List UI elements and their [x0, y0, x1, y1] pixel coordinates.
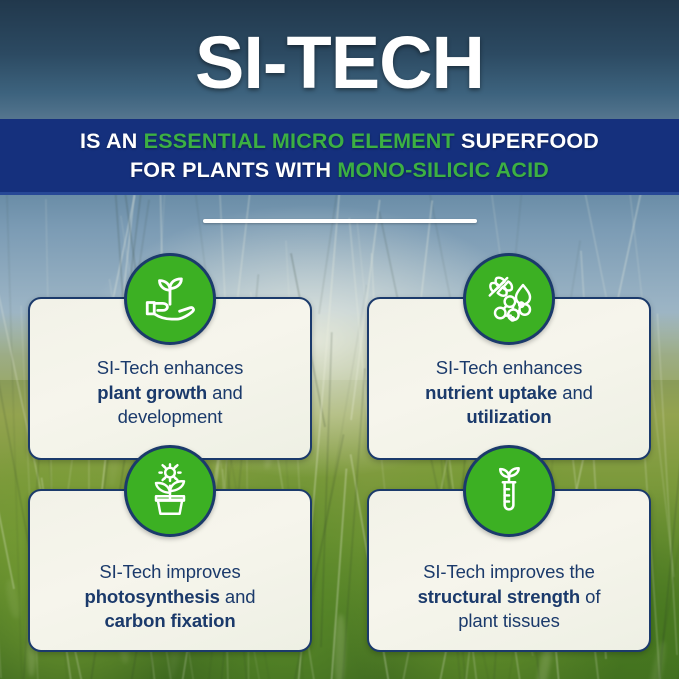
tagline-line-2-prefix: FOR PLANTS WITH: [130, 158, 337, 182]
benefit-card-plant-growth: SI-Tech enhances plant growth and develo…: [28, 297, 312, 460]
card-text-part2: and: [220, 586, 256, 607]
benefit-card-text: SI-Tech enhances plant growth and develo…: [97, 356, 244, 444]
card-text-part1: SI-Tech improves the: [423, 561, 595, 582]
benefit-card-structural-strength: SI-Tech improves the structural strength…: [367, 489, 651, 652]
card-text-part3: utilization: [466, 406, 551, 427]
card-text-part2: of: [580, 586, 600, 607]
card-text-bold: photosynthesis: [85, 586, 220, 607]
benefits-grid: SI-Tech enhances plant growth and develo…: [28, 297, 651, 652]
benefit-card-text: SI-Tech improves photosynthesis and carb…: [85, 560, 256, 636]
section-divider: [203, 219, 477, 223]
card-text-part3: development: [118, 406, 223, 427]
card-text-bold: plant growth: [97, 382, 207, 403]
card-text-part1: SI-Tech improves: [99, 561, 240, 582]
card-text-part1: SI-Tech enhances: [436, 357, 583, 378]
benefit-card-nutrient-uptake: SI-Tech enhances nutrient uptake and uti…: [367, 297, 651, 460]
tagline-line-1-highlight: ESSENTIAL MICRO ELEMENT: [144, 129, 455, 153]
tagline-line-1: IS AN ESSENTIAL MICRO ELEMENT SUPERFOOD: [80, 127, 599, 155]
card-text-bold: structural strength: [418, 586, 581, 607]
tagline-line-2: FOR PLANTS WITH MONO-SILICIC ACID: [130, 156, 549, 184]
header-bar: SI-TECH: [0, 0, 679, 120]
benefit-card-text: SI-Tech improves the structural strength…: [418, 560, 601, 636]
benefit-card-photosynthesis: SI-Tech improves photosynthesis and carb…: [28, 489, 312, 652]
card-text-part1: SI-Tech enhances: [97, 357, 244, 378]
test-tube-sprout-icon: [463, 445, 555, 537]
tagline-line-1-prefix: IS AN: [80, 129, 144, 153]
card-text-part3: carbon fixation: [104, 610, 235, 631]
hand-holding-sprout-icon: [124, 253, 216, 345]
poster: SI-TECH IS AN ESSENTIAL MICRO ELEMENT SU…: [0, 0, 679, 679]
page-title: SI-TECH: [195, 26, 484, 100]
tagline-banner: IS AN ESSENTIAL MICRO ELEMENT SUPERFOOD …: [0, 119, 679, 195]
tagline-line-2-highlight: MONO-SILICIC ACID: [337, 158, 549, 182]
sun-potted-plant-icon: [124, 445, 216, 537]
benefit-card-text: SI-Tech enhances nutrient uptake and uti…: [425, 356, 593, 444]
card-text-bold: nutrient uptake: [425, 382, 557, 403]
card-text-part2: and: [207, 382, 243, 403]
card-text-part3: plant tissues: [458, 610, 560, 631]
tagline-line-1-suffix: SUPERFOOD: [455, 129, 599, 153]
card-text-part2: and: [557, 382, 593, 403]
leaves-droplet-molecule-icon: [463, 253, 555, 345]
